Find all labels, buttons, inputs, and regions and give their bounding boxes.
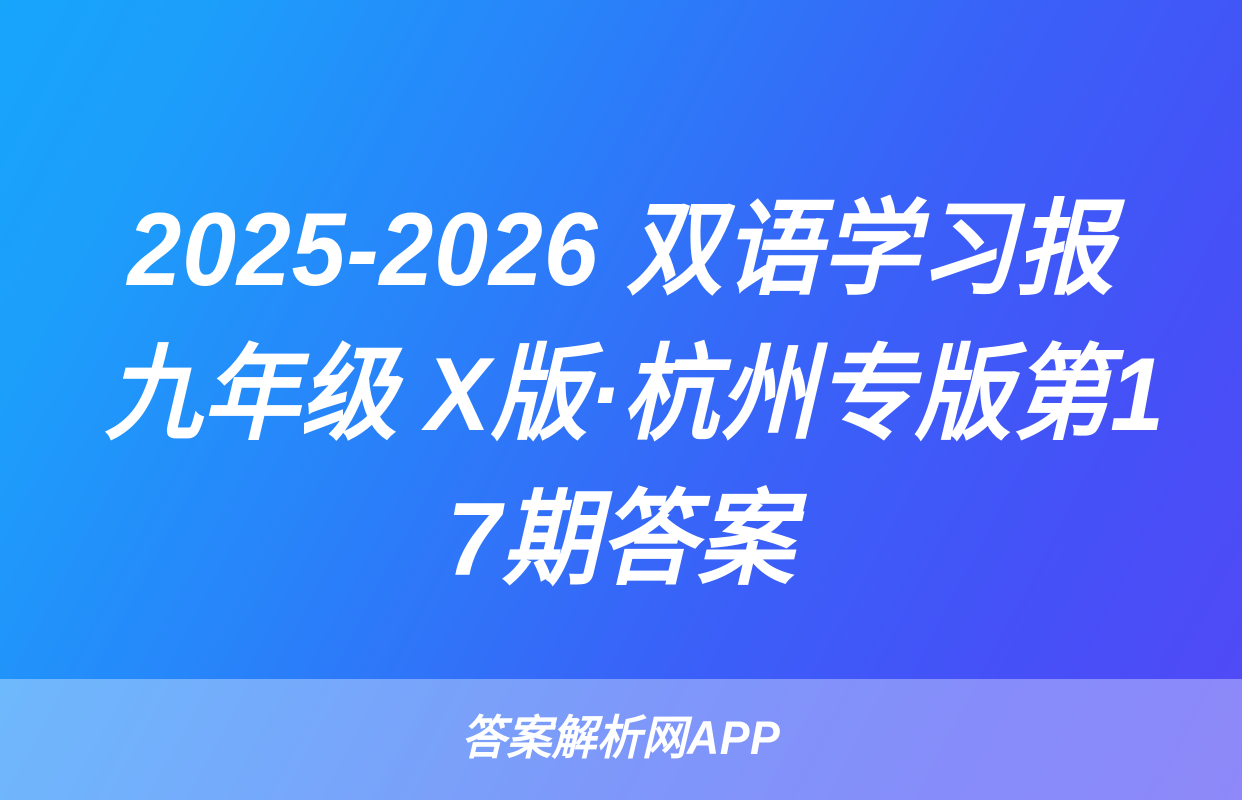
- answer-card: 2025-2026 双语学习报 九年级 X版·杭州专版第1 7期答案 答案解析网…: [0, 0, 1242, 800]
- page-title-line-1: 2025-2026 双语学习报: [105, 178, 1137, 323]
- app-watermark-label: 答案解析网APP: [462, 712, 781, 764]
- page-title-line-2: 九年级 X版·杭州专版第1: [105, 323, 1137, 468]
- app-watermark: 答案解析网APP: [0, 712, 1242, 764]
- page-title: 2025-2026 双语学习报 九年级 X版·杭州专版第1 7期答案: [66, 178, 1176, 613]
- page-title-line-3: 7期答案: [105, 468, 1137, 613]
